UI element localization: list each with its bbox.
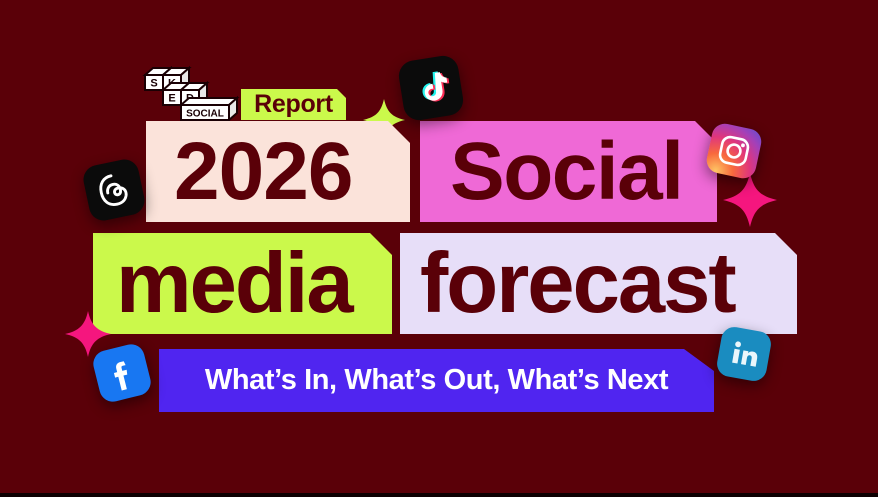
svg-text:S: S xyxy=(150,78,157,90)
headline-text-forecast: forecast xyxy=(420,241,735,326)
headline-block-2026: 2026 xyxy=(146,121,410,222)
headline-text-media: media xyxy=(116,241,352,326)
facebook-icon[interactable] xyxy=(90,341,153,404)
svg-text:E: E xyxy=(168,93,175,105)
svg-text:SOCIAL: SOCIAL xyxy=(186,109,224,120)
bottom-edge-strip xyxy=(0,493,878,497)
subtitle-bar: What’s In, What’s Out, What’s Next xyxy=(159,349,714,412)
headline-text-2026: 2026 xyxy=(174,131,352,213)
linkedin-icon[interactable] xyxy=(715,325,773,383)
tiktok-glyph xyxy=(409,66,452,109)
threads-icon[interactable] xyxy=(81,157,147,223)
sked-social-logo[interactable]: S K E D xyxy=(141,63,249,123)
facebook-glyph xyxy=(101,352,142,393)
instagram-glyph xyxy=(714,131,754,171)
headline-block-forecast: forecast xyxy=(400,233,797,334)
linkedin-glyph xyxy=(724,334,763,373)
threads-glyph xyxy=(93,169,136,212)
logo-cubes-svg: S K E D xyxy=(141,63,249,125)
report-badge-label: Report xyxy=(254,90,333,119)
tiktok-icon[interactable] xyxy=(397,54,466,123)
subtitle-text: What’s In, What’s Out, What’s Next xyxy=(205,364,668,397)
poster-canvas: S K E D xyxy=(0,0,878,497)
headline-block-media: media xyxy=(93,233,392,334)
headline-text-social: Social xyxy=(450,131,683,213)
report-badge: Report xyxy=(241,89,346,120)
sparkle-pink-right-icon xyxy=(722,172,778,233)
headline-block-social: Social xyxy=(420,121,717,222)
